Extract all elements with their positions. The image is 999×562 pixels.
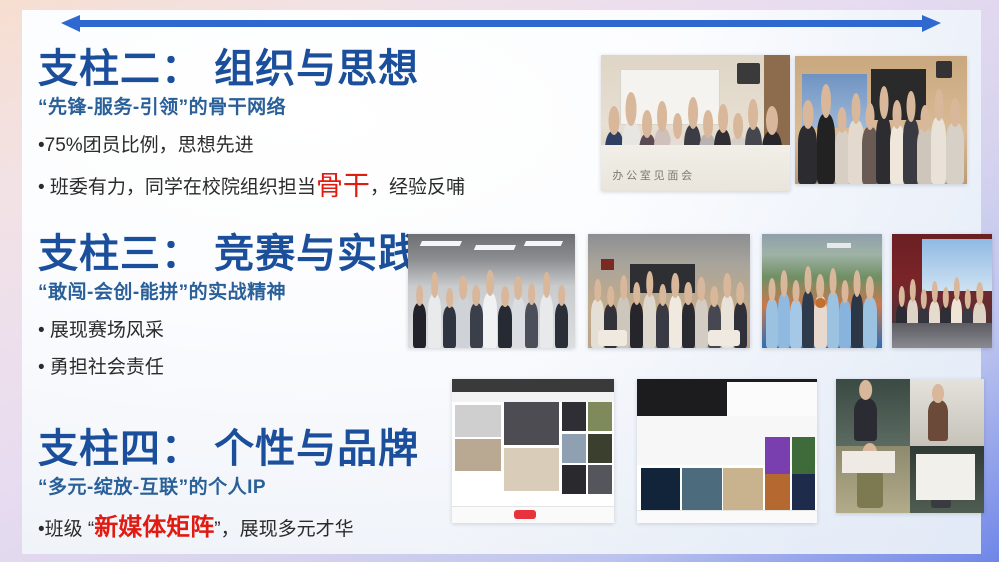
thumbnail <box>682 468 722 511</box>
bullet-dot: • <box>38 135 45 156</box>
left-arrow-icon <box>78 20 618 27</box>
bullet-text: 班级 “ <box>45 519 95 540</box>
speaker-box <box>936 61 951 78</box>
bullet-text-tail: ，经验反哺 <box>370 177 465 198</box>
slide-root: 支柱二： 组织与思想 “先锋-服务-引领”的骨干网络 •75%团员比例，思想先进… <box>0 0 999 562</box>
round-table <box>598 330 627 346</box>
bullet-text: 班委有力，同学在校院组织担当 <box>45 177 316 198</box>
bullet-text: 勇担社会责任 <box>45 357 164 378</box>
screenshot-social-profile-app <box>637 379 817 523</box>
basketball-hoop <box>827 243 851 248</box>
photo-lecture-collage <box>836 379 984 513</box>
profile-body <box>637 416 817 465</box>
section-pillar-four: 支柱四： 个性与品牌 “多元-绽放-互联”的个人IP •班级 “新媒体矩阵”，展… <box>38 428 419 543</box>
page-title-pillar-four: 支柱四： 个性与品牌 <box>38 428 419 470</box>
thumbnail <box>641 468 681 511</box>
bullet-text-tail: ”，展现多元才华 <box>214 519 353 540</box>
phone-nav-bar <box>452 392 614 402</box>
photo-office-meetup: 办 公 室 见 面 会 <box>601 55 790 191</box>
section-pillar-three: 支柱三： 竞赛与实践 “敢闯-会创-能拼”的实战精神 • 展现赛场风采 • 勇担… <box>38 233 419 379</box>
seating-rows <box>892 323 992 348</box>
basketball <box>815 298 826 308</box>
bullet-item: • 展现赛场风采 <box>38 319 419 343</box>
bullet-text: 展现赛场风采 <box>45 320 164 341</box>
subtitle-pillar-two: “先锋-服务-引领”的骨干网络 <box>38 97 465 120</box>
paper-sheet <box>916 454 975 500</box>
photo-banquet-hall <box>588 234 750 348</box>
ceiling-light <box>420 241 462 246</box>
bullet-dot: • <box>38 177 45 198</box>
photo-auditorium-stage <box>892 234 992 348</box>
bullet-item: •75%团员比例，思想先进 <box>38 134 465 158</box>
right-arrow-icon <box>612 20 922 27</box>
bullet-item: • 勇担社会责任 <box>38 356 419 380</box>
record-button <box>514 510 537 519</box>
bullet-highlight: 骨干 <box>316 171 370 201</box>
bullet-text: 75%团员比例，思想先进 <box>45 135 254 156</box>
thumbnail <box>504 402 559 445</box>
screenshot-short-video-app <box>452 379 614 523</box>
paper-sheet <box>842 451 895 472</box>
photo-crowd <box>795 102 967 184</box>
thumbnail <box>455 405 500 437</box>
photo-class-gathering <box>795 56 967 184</box>
ceiling-light <box>524 241 563 246</box>
ceiling-light <box>474 245 516 250</box>
bullet-dot: • <box>38 519 45 540</box>
subtitle-pillar-four: “多元-绽放-互联”的个人IP <box>38 477 419 500</box>
thumbnail <box>562 465 586 494</box>
photo-dance-rehearsal <box>408 234 575 348</box>
thumbnail <box>588 402 612 431</box>
thumbnail <box>588 434 612 463</box>
bullet-item: • 班委有力，同学在校院组织担当骨干，经验反哺 <box>38 170 465 204</box>
thumbnail <box>562 434 586 463</box>
thumbnail <box>588 465 612 494</box>
thumbnail <box>723 468 763 511</box>
bullet-dot: • <box>38 357 45 378</box>
round-table <box>708 330 740 346</box>
thumbnail <box>455 439 500 471</box>
phone-status-bar <box>452 379 614 392</box>
thumbnail <box>792 437 815 474</box>
wall-sign <box>601 259 614 270</box>
phone-tab-bar <box>637 510 817 523</box>
bullet-highlight: 新媒体矩阵 <box>94 514 214 541</box>
photo-basketball-team <box>762 234 882 348</box>
subtitle-pillar-three: “敢闯-会创-能拼”的实战精神 <box>38 282 419 305</box>
thumbnail <box>504 448 559 491</box>
thumbnail <box>792 474 815 511</box>
section-pillar-two: 支柱二： 组织与思想 “先锋-服务-引领”的骨干网络 •75%团员比例，思想先进… <box>38 48 465 203</box>
speaker-box <box>737 63 760 83</box>
photo-crowd <box>762 280 882 348</box>
bullet-item: •班级 “新媒体矩阵”，展现多元才华 <box>38 513 419 543</box>
page-title-pillar-two: 支柱二： 组织与思想 <box>38 48 465 90</box>
top-arrow-row <box>0 14 999 40</box>
photo-caption: 办 公 室 见 面 会 <box>612 167 692 183</box>
bullet-dot: • <box>38 320 45 341</box>
thumbnail <box>765 437 790 474</box>
photo-crowd <box>408 284 575 348</box>
page-title-pillar-three: 支柱三： 竞赛与实践 <box>38 233 419 275</box>
thumbnail <box>765 474 790 511</box>
thumbnail <box>562 402 586 431</box>
